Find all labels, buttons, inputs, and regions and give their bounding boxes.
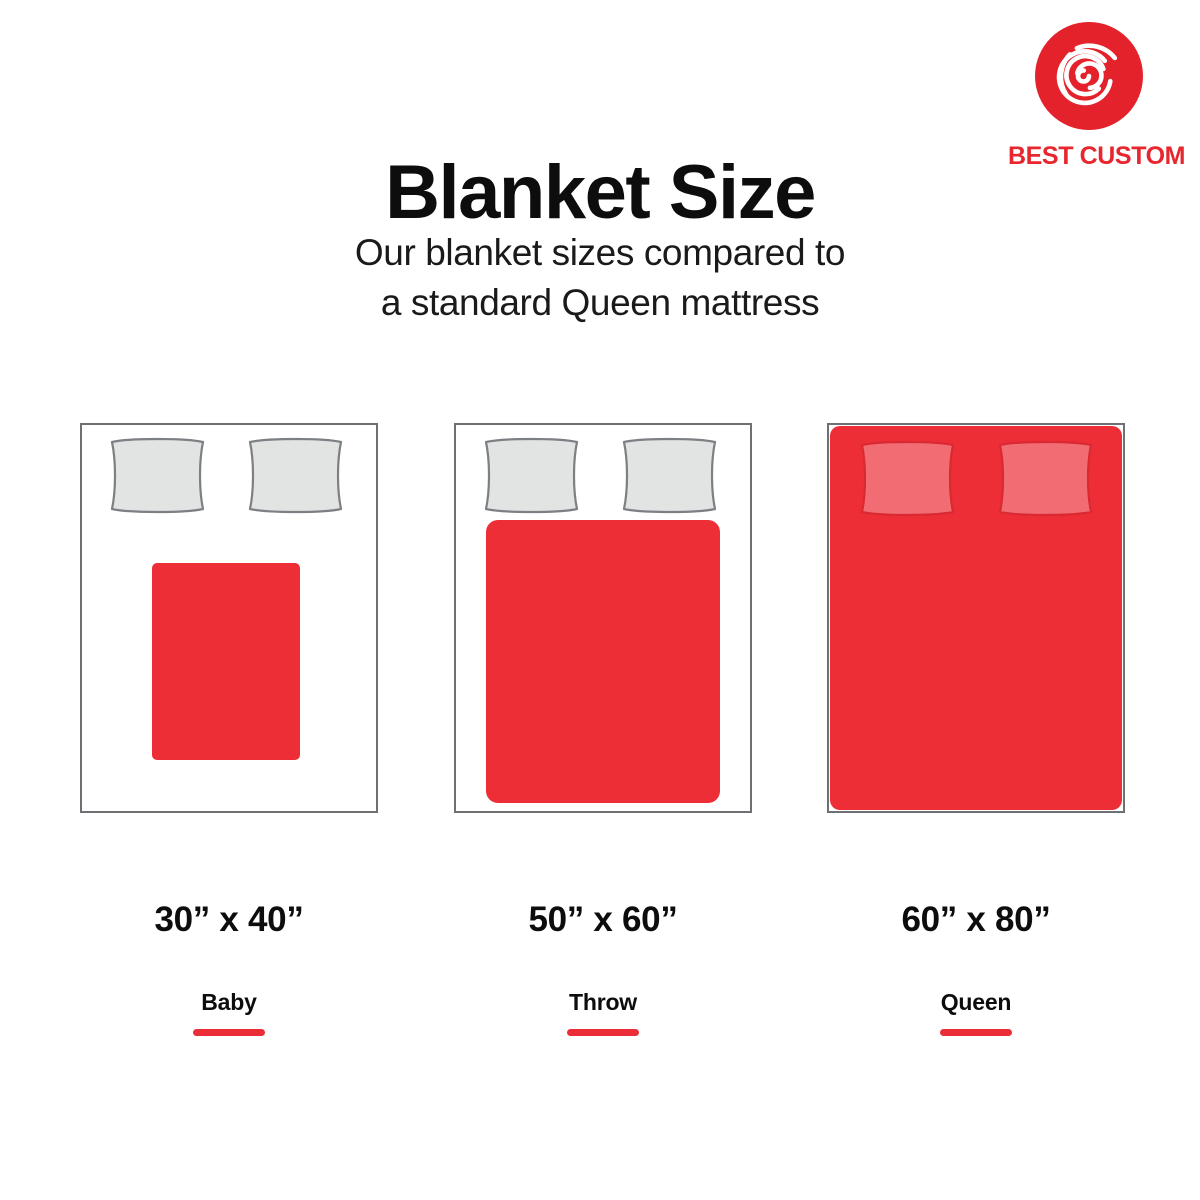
pillow-icon <box>858 440 957 517</box>
blanket-name: Baby <box>80 989 378 1016</box>
pillow-icon <box>246 437 345 514</box>
accent-underline <box>940 1029 1012 1036</box>
caption-baby: 30” x 40” Baby <box>80 900 378 1036</box>
accent-underline <box>193 1029 265 1036</box>
bed-diagram-queen <box>827 423 1125 813</box>
caption-throw: 50” x 60” Throw <box>454 900 752 1036</box>
blanket-dimensions: 60” x 80” <box>827 900 1125 940</box>
page-subtitle-line-2: a standard Queen mattress <box>0 278 1200 328</box>
pillow-icon <box>620 437 719 514</box>
page-subtitle: Our blanket sizes compared to a standard… <box>0 228 1200 328</box>
bed-comparison-row <box>0 423 1200 823</box>
pillow-icon <box>482 437 581 514</box>
blanket-dimensions: 50” x 60” <box>454 900 752 940</box>
blanket-name: Throw <box>454 989 752 1016</box>
bed-diagram-baby <box>80 423 378 813</box>
page-title: Blanket Size <box>0 155 1200 231</box>
pillow-icon <box>108 437 207 514</box>
pillow-icon <box>996 440 1095 517</box>
accent-underline <box>567 1029 639 1036</box>
bed-diagram-throw <box>454 423 752 813</box>
blanket-shape-baby <box>152 563 300 760</box>
blanket-shape-queen <box>830 426 1122 810</box>
page-subtitle-line-1: Our blanket sizes compared to <box>0 228 1200 278</box>
blanket-dimensions: 30” x 40” <box>80 900 378 940</box>
blanket-name: Queen <box>827 989 1125 1016</box>
captions-row: 30” x 40” Baby 50” x 60” Throw 60” x 80”… <box>0 900 1200 1050</box>
fingerprint-icon <box>1035 22 1143 130</box>
caption-queen: 60” x 80” Queen <box>827 900 1125 1036</box>
blanket-shape-throw <box>486 520 720 803</box>
